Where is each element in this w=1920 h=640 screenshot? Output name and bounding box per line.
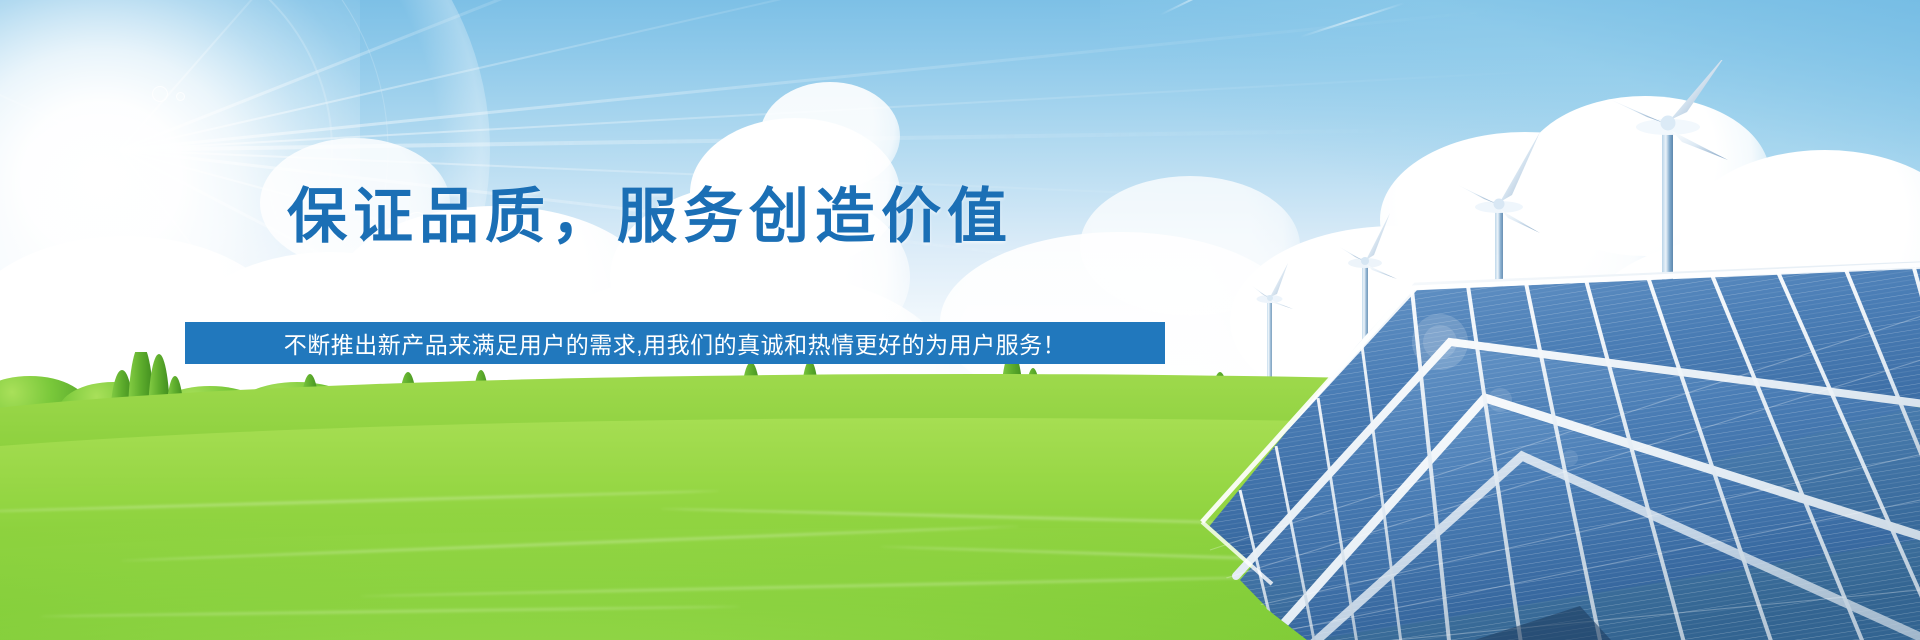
subtitle-bar: 不断推出新产品来满足用户的需求,用我们的真诚和热情更好的为用户服务！ (185, 322, 1165, 364)
hero-banner: 保证品质，服务创造价值 不断推出新产品来满足用户的需求,用我们的真诚和热情更好的… (0, 0, 1920, 640)
solar-panel-array (1150, 250, 1920, 640)
page-title: 保证品质，服务创造价值 (0, 168, 1300, 255)
subtitle-text: 不断推出新产品来满足用户的需求,用我们的真诚和热情更好的为用户服务！ (284, 326, 1066, 360)
